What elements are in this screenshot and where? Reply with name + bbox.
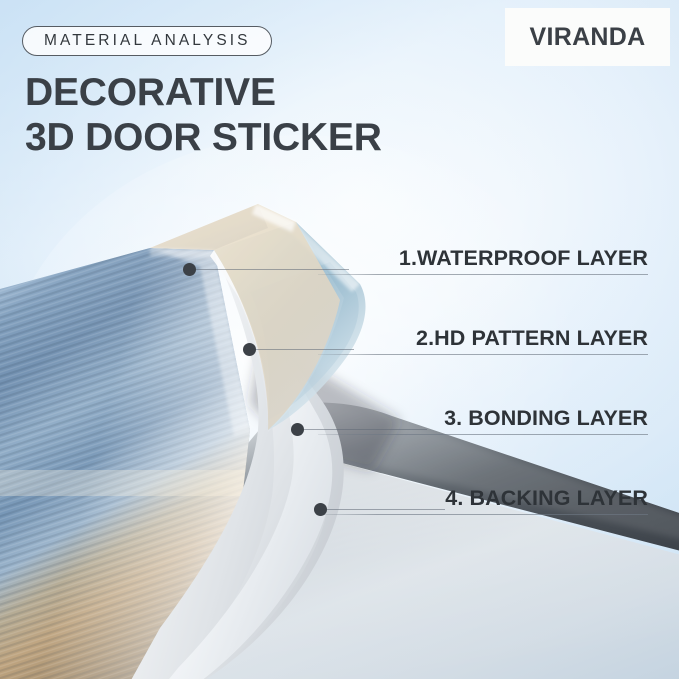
- callout-rule-1: [318, 274, 648, 275]
- callout-label-1: 1.WATERPROOF LAYER: [318, 246, 648, 275]
- leader-dot-3: [291, 423, 304, 436]
- callout-rule-2: [318, 354, 648, 355]
- material-analysis-badge: MATERIAL ANALYSIS: [22, 26, 272, 56]
- callout-rule-3: [318, 434, 648, 435]
- badge-label: MATERIAL ANALYSIS: [44, 32, 251, 50]
- leader-line-1: [189, 269, 349, 270]
- infographic-canvas: MATERIAL ANALYSIS DECORATIVE 3D DOOR STI…: [0, 0, 679, 679]
- leader-line-2: [249, 349, 354, 350]
- callout-label-2: 2.HD PATTERN LAYER: [318, 326, 648, 355]
- leader-dot-1: [183, 263, 196, 276]
- leader-line-4: [320, 509, 445, 510]
- brand-logo: VIRANDA: [505, 8, 670, 66]
- callout-label-1-text: 1.WATERPROOF LAYER: [318, 246, 648, 274]
- leader-dot-4: [314, 503, 327, 516]
- brand-name: VIRANDA: [530, 23, 646, 52]
- callout-label-3: 3. BONDING LAYER: [318, 406, 648, 435]
- callout-rule-4: [318, 514, 648, 515]
- callout-label-2-text: 2.HD PATTERN LAYER: [318, 326, 648, 354]
- leader-dot-2: [243, 343, 256, 356]
- leader-line-3: [297, 429, 427, 430]
- title-line-1: DECORATIVE: [25, 70, 505, 115]
- callout-label-4: 4. BACKING LAYER: [318, 486, 648, 515]
- page-title: DECORATIVE 3D DOOR STICKER: [25, 70, 505, 160]
- title-line-2: 3D DOOR STICKER: [25, 115, 505, 160]
